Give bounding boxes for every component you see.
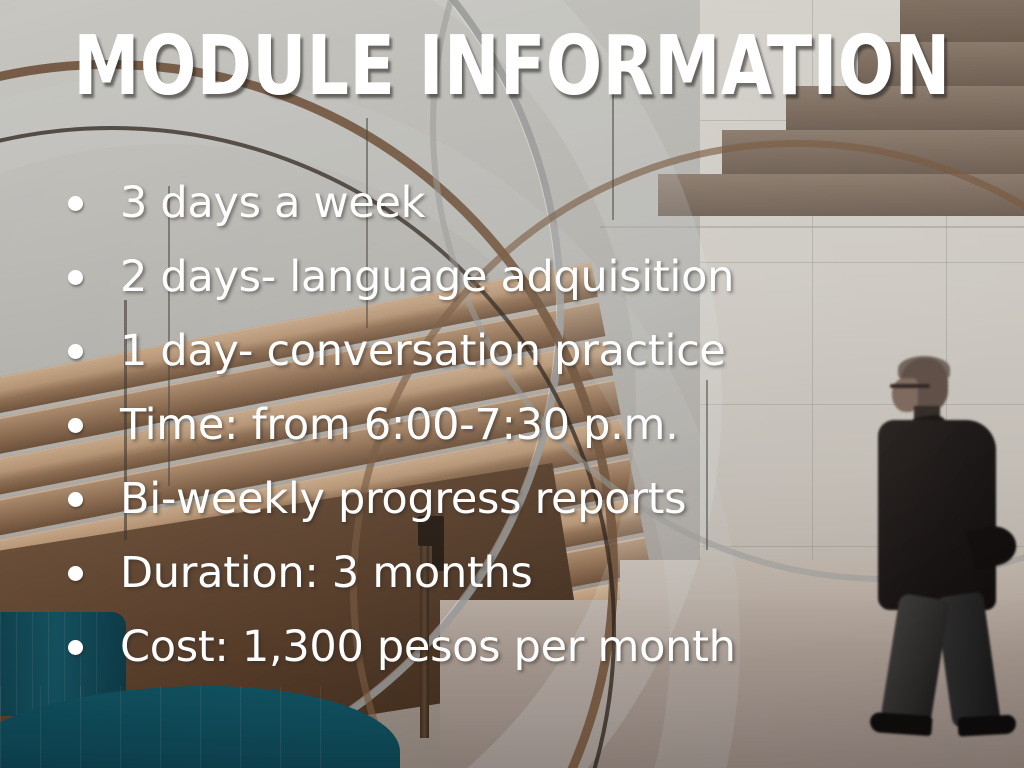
list-item: Duration: 3 months (60, 536, 960, 610)
list-item: 2 days- language adquisition (60, 240, 960, 314)
bullet-dot-icon (68, 270, 83, 285)
bullet-dot-icon (68, 566, 83, 581)
list-item: Cost: 1,300 pesos per month (60, 610, 960, 684)
bullet-list: 3 days a week 2 days- language adquisiti… (60, 166, 960, 684)
presentation-slide: MODULE INFORMATION 3 days a week 2 days-… (0, 0, 1024, 768)
person-shoe-front (869, 712, 932, 736)
bullet-dot-icon (68, 640, 83, 655)
list-item: 1 day- conversation practice (60, 314, 960, 388)
bullet-item-label: 3 days a week (120, 178, 425, 228)
bullet-item-label: 2 days- language adquisition (120, 252, 734, 302)
list-item: Bi-weekly progress reports (60, 462, 960, 536)
list-item: 3 days a week (60, 166, 960, 240)
bullet-item-label: Cost: 1,300 pesos per month (120, 622, 736, 672)
bullet-item-label: Time: from 6:00-7:30 p.m. (120, 400, 678, 450)
list-item: Time: from 6:00-7:30 p.m. (60, 388, 960, 462)
person-shoe-back (958, 714, 1017, 736)
bullet-dot-icon (68, 196, 83, 211)
bullet-item-label: Bi-weekly progress reports (120, 474, 686, 524)
bullet-item-label: 1 day- conversation practice (120, 326, 726, 376)
bullet-item-label: Duration: 3 months (120, 548, 533, 598)
bullet-dot-icon (68, 492, 83, 507)
bullet-dot-icon (68, 344, 83, 359)
slide-title: MODULE INFORMATION (51, 24, 973, 110)
bullet-dot-icon (68, 418, 83, 433)
